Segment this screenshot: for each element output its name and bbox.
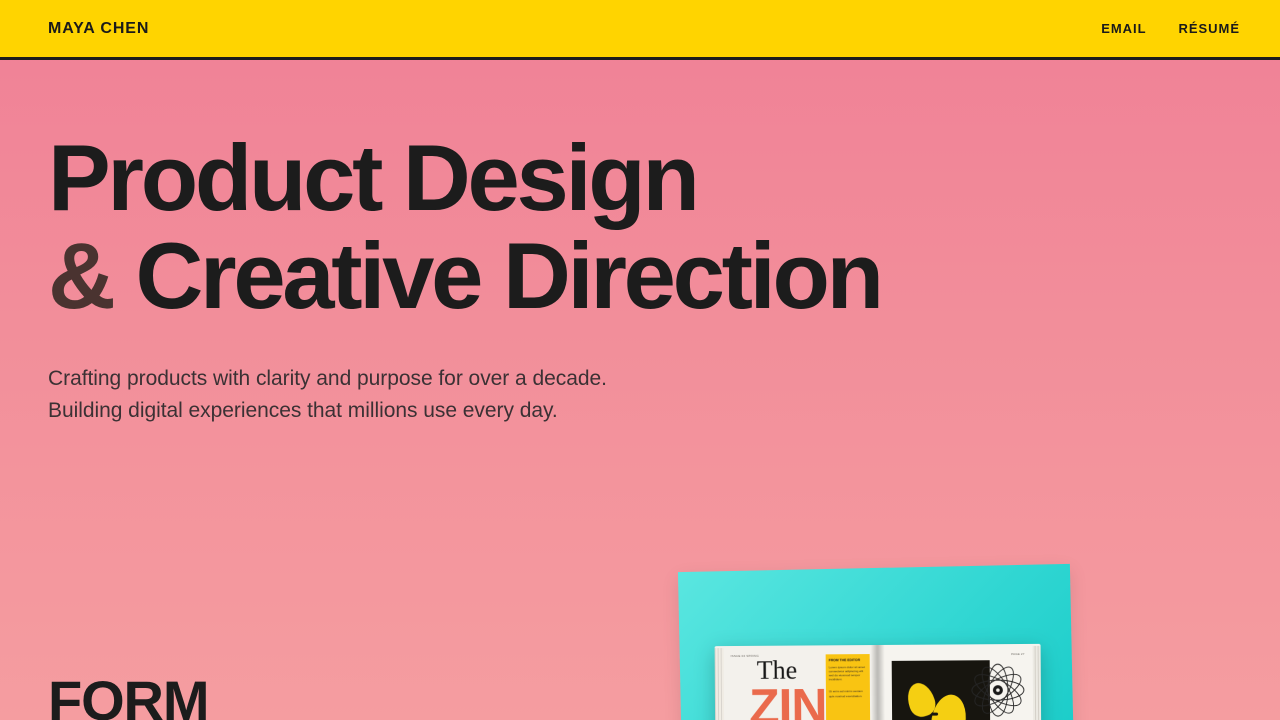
magazine-page-edge-stack bbox=[715, 648, 725, 720]
nav-link-resume[interactable]: RÉSUMÉ bbox=[1179, 21, 1240, 36]
hero-subtitle-line-2: Building digital experiences that millio… bbox=[48, 395, 1232, 427]
hero-subtitle-line-1: Crafting products with clarity and purpo… bbox=[48, 363, 1232, 395]
nav-link-email[interactable]: EMAIL bbox=[1101, 21, 1146, 36]
magazine-zine-word: ZIN bbox=[749, 681, 827, 720]
magazine-right-page: PAGE 27 bbox=[878, 644, 1042, 720]
section-heading-form: FORM bbox=[48, 672, 208, 720]
hero-title-line-2: & Creative Direction bbox=[48, 227, 1232, 325]
magazine-left-page: ISSUE 04 SPRING The ZIN FROM THE EDITOR … bbox=[715, 645, 879, 720]
magazine-yellow-sidebar: FROM THE EDITOR Lorem ipsum dolor sit am… bbox=[826, 654, 871, 720]
hero-section: Product Design & Creative Direction Craf… bbox=[0, 63, 1280, 427]
site-header: MAYA CHEN EMAIL RÉSUMÉ bbox=[0, 0, 1280, 60]
hero-title-line-2-text: Creative Direction bbox=[135, 223, 880, 328]
hero-title-line-1: Product Design bbox=[48, 129, 1232, 227]
open-magazine-photo: ISSUE 04 SPRING The ZIN FROM THE EDITOR … bbox=[715, 644, 1042, 720]
magazine-left-folio: ISSUE 04 SPRING bbox=[731, 654, 759, 658]
primary-navigation: EMAIL RÉSUMÉ bbox=[1101, 21, 1240, 36]
yellow-pear-shape-b bbox=[928, 692, 969, 720]
magazine-binding-edge bbox=[1033, 646, 1042, 720]
hero-artwork: ISSUE 04 SPRING The ZIN FROM THE EDITOR … bbox=[660, 550, 1120, 720]
hero-subtitle: Crafting products with clarity and purpo… bbox=[48, 363, 1232, 427]
pear-notch bbox=[931, 713, 938, 716]
magazine-yellow-title: FROM THE EDITOR bbox=[829, 658, 867, 663]
brand-wordmark[interactable]: MAYA CHEN bbox=[48, 20, 149, 38]
page-root: MAYA CHEN EMAIL RÉSUMÉ Product Design & … bbox=[0, 0, 1280, 720]
ampersand-glyph: & bbox=[48, 223, 113, 328]
atom-diagram-icon bbox=[967, 662, 1029, 718]
page-title: Product Design & Creative Direction bbox=[48, 129, 1232, 325]
magazine-yellow-body-2: Ut enim ad minim veniam quis nostrud exe… bbox=[829, 689, 867, 698]
magazine-right-folio: PAGE 27 bbox=[1011, 652, 1025, 656]
magazine-yellow-body: Lorem ipsum dolor sit amet consectetur a… bbox=[829, 665, 867, 682]
